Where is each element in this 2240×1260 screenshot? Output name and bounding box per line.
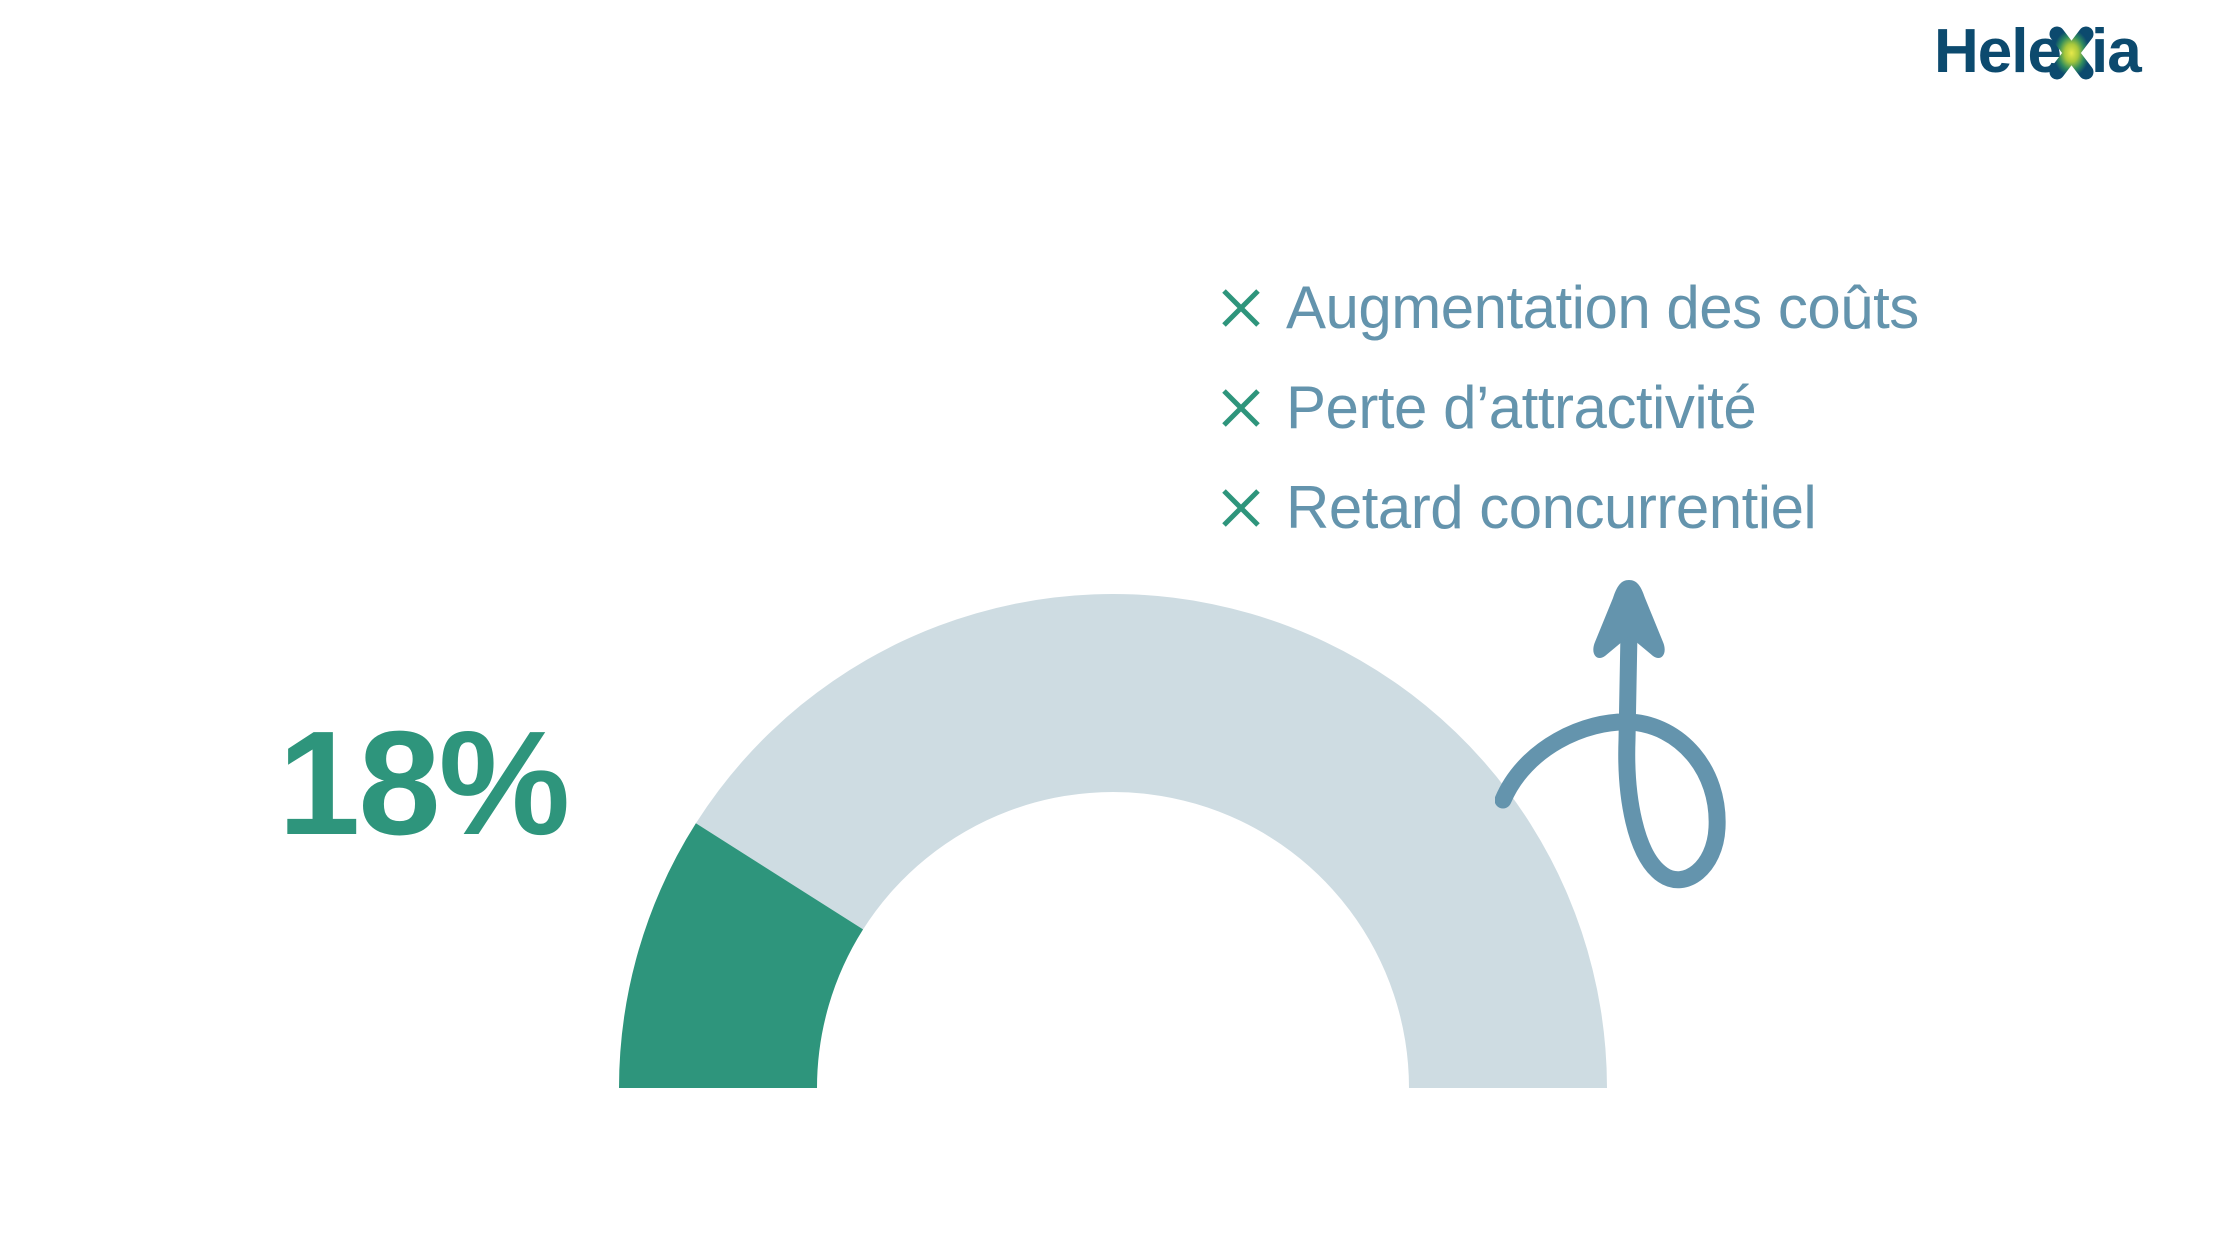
logo-x-glyph (2057, 34, 2086, 72)
risk-list: Augmentation des coûts Perte d’attractiv… (1218, 258, 2118, 558)
x-mark-icon (1218, 485, 1264, 531)
logo-text-hele: Hele (1934, 18, 2061, 86)
helexia-logo: Hele ia (1934, 18, 2192, 86)
list-item: Retard concurrentiel (1218, 458, 2118, 558)
arrow-loop-path (1503, 632, 1717, 880)
gauge-track-segment (696, 594, 1607, 1088)
logo-text-ia: ia (2091, 18, 2142, 86)
risk-label: Perte d’attractivité (1286, 378, 1756, 438)
x-mark-icon (1218, 285, 1264, 331)
half-donut-gauge-chart (600, 575, 1640, 1105)
slide-canvas: Hele ia Augmentation des coûts Perte d’a… (0, 0, 2240, 1260)
list-item: Augmentation des coûts (1218, 258, 2118, 358)
risk-label: Augmentation des coûts (1286, 278, 1919, 338)
list-item: Perte d’attractivité (1218, 358, 2118, 458)
gauge-value-label: 18% (278, 710, 568, 858)
upward-growth-arrow-icon (1495, 570, 1760, 900)
x-mark-icon (1218, 385, 1264, 431)
risk-label: Retard concurrentiel (1286, 478, 1816, 538)
